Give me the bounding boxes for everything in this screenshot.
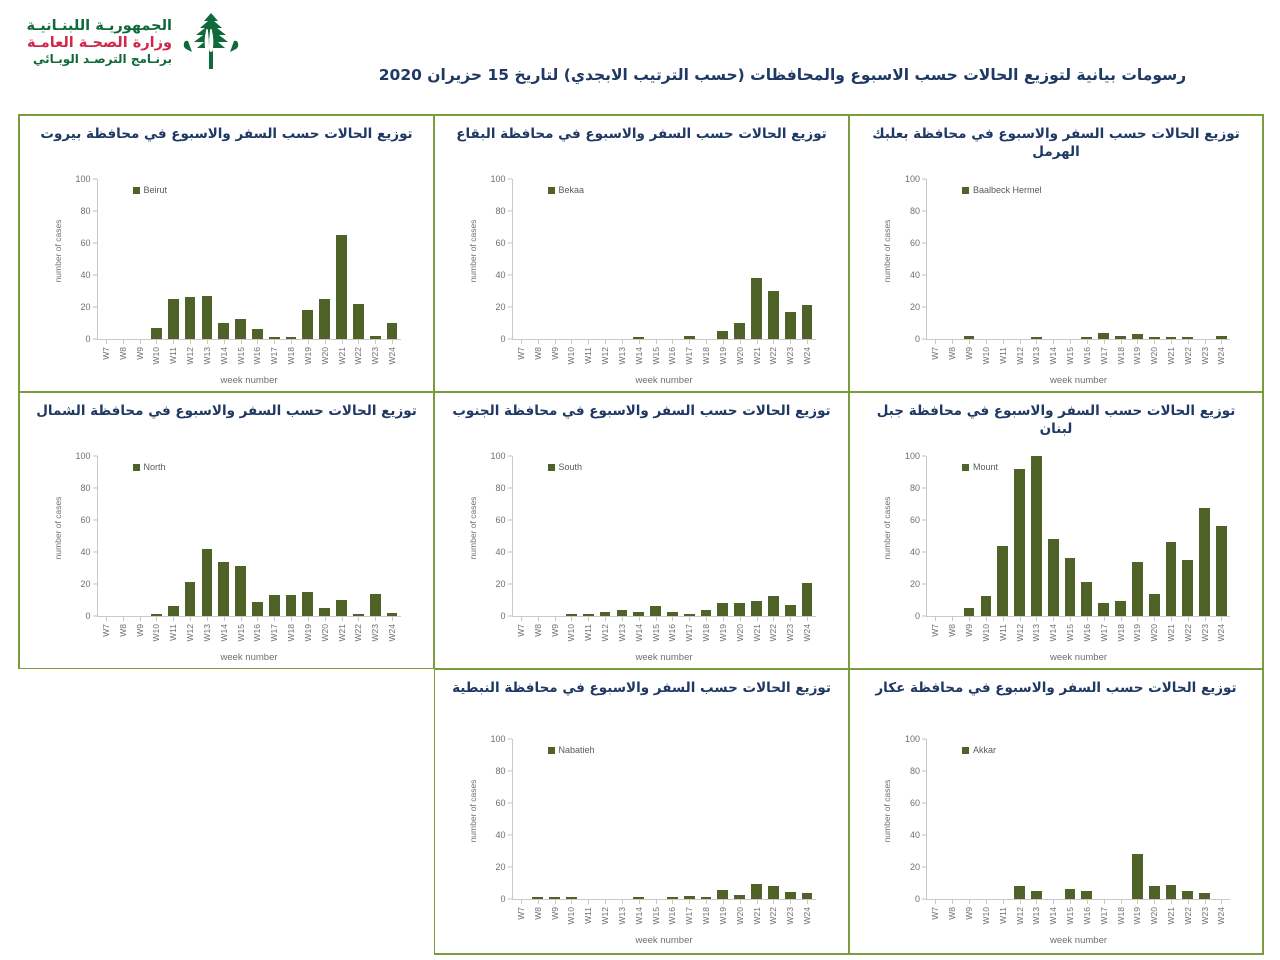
bar[interactable] xyxy=(302,310,313,339)
chart-legend: Mount xyxy=(962,462,998,472)
x-tick-label: W10 xyxy=(566,907,576,924)
bar[interactable] xyxy=(1065,558,1076,616)
bar[interactable] xyxy=(252,602,263,616)
x-slot: W21 xyxy=(748,900,765,940)
bar-slot xyxy=(148,179,165,339)
bar[interactable] xyxy=(1166,337,1177,339)
bar[interactable] xyxy=(1081,337,1092,339)
bar[interactable] xyxy=(235,319,246,339)
bar[interactable] xyxy=(151,328,162,339)
x-tick-mark xyxy=(358,617,359,621)
x-slot: W19 xyxy=(714,340,731,380)
x-axis-label: week number xyxy=(98,375,401,386)
bar[interactable] xyxy=(633,337,644,339)
x-slot: W22 xyxy=(1179,900,1196,940)
x-slot: W15 xyxy=(647,900,664,940)
bar-slot xyxy=(98,456,115,616)
x-slot: W8 xyxy=(114,617,131,657)
x-slot: W11 xyxy=(580,617,597,657)
bar[interactable] xyxy=(717,603,728,616)
bar[interactable] xyxy=(650,606,661,616)
x-tick-label: W20 xyxy=(1149,624,1159,641)
y-tick-label: 60 xyxy=(910,238,920,248)
bar[interactable] xyxy=(1081,582,1092,616)
bar[interactable] xyxy=(1216,526,1227,616)
x-tick-mark xyxy=(1036,340,1037,344)
bar[interactable] xyxy=(252,329,263,339)
y-axis-ticks: 100806040200 xyxy=(892,179,926,339)
x-tick-label: W20 xyxy=(735,907,745,924)
x-slot: W20 xyxy=(1146,340,1163,380)
y-tick-label: 0 xyxy=(85,334,90,344)
bar[interactable] xyxy=(151,614,162,616)
x-tick-mark xyxy=(807,617,808,621)
x-slot: W11 xyxy=(994,900,1011,940)
x-tick-mark xyxy=(257,340,258,344)
chart-legend: Bekaa xyxy=(548,185,585,195)
bar[interactable] xyxy=(336,235,347,339)
x-tick-mark xyxy=(1154,617,1155,621)
x-tick-label: W15 xyxy=(1065,624,1075,641)
y-tick-label: 0 xyxy=(500,894,505,904)
bar[interactable] xyxy=(1166,885,1177,899)
x-tick-mark xyxy=(740,340,741,344)
bar-slot xyxy=(714,739,731,899)
bar[interactable] xyxy=(302,592,313,616)
bar[interactable] xyxy=(336,600,347,616)
x-tick-mark xyxy=(521,900,522,904)
bar[interactable] xyxy=(1182,560,1193,616)
x-slot: W24 xyxy=(799,900,816,940)
x-tick-mark xyxy=(1221,617,1222,621)
bar[interactable] xyxy=(185,582,196,616)
bar[interactable] xyxy=(802,893,813,899)
bar[interactable] xyxy=(1098,603,1109,616)
legend-swatch-icon xyxy=(962,747,969,754)
bar[interactable] xyxy=(1149,594,1160,616)
bar[interactable] xyxy=(387,613,398,616)
x-tick-label: W7 xyxy=(930,347,940,360)
bar[interactable] xyxy=(997,546,1008,616)
bar-slot xyxy=(647,739,664,899)
bar[interactable] xyxy=(1098,333,1109,339)
x-slot: W20 xyxy=(1146,900,1163,940)
x-slot: W17 xyxy=(681,900,698,940)
bar[interactable] xyxy=(768,291,779,339)
y-tick-label: 80 xyxy=(910,766,920,776)
x-tick-label: W19 xyxy=(718,347,728,364)
x-tick-mark xyxy=(1205,900,1206,904)
x-tick-label: W19 xyxy=(718,624,728,641)
bar-slot xyxy=(630,456,647,616)
bar-slot xyxy=(927,456,944,616)
x-axis-label: week number xyxy=(927,375,1230,386)
x-tick-mark xyxy=(807,900,808,904)
x-tick-label: W14 xyxy=(219,347,229,364)
bar[interactable] xyxy=(717,331,728,339)
bar[interactable] xyxy=(701,897,712,899)
chart-title: توزيع الحالات حسب السفر والاسبوع في محاف… xyxy=(435,670,848,697)
bar[interactable] xyxy=(768,596,779,616)
x-tick-label: W15 xyxy=(236,624,246,641)
bar-slot xyxy=(1112,739,1129,899)
bar[interactable] xyxy=(218,562,229,616)
x-tick-mark xyxy=(790,617,791,621)
chart-cell-nabatieh: توزيع الحالات حسب السفر والاسبوع في محاف… xyxy=(434,669,849,955)
bar[interactable] xyxy=(1031,337,1042,339)
x-slot: W10 xyxy=(563,617,580,657)
bar[interactable] xyxy=(370,336,381,339)
bar[interactable] xyxy=(802,583,813,616)
bar-slot xyxy=(961,179,978,339)
y-tick-label: 60 xyxy=(80,515,90,525)
y-tick-label: 40 xyxy=(80,547,90,557)
x-slot: W11 xyxy=(580,900,597,940)
x-tick-label: W22 xyxy=(353,347,363,364)
x-tick-mark xyxy=(1188,340,1189,344)
bar-slot xyxy=(977,179,994,339)
y-tick-label: 100 xyxy=(75,451,90,461)
x-slot: W24 xyxy=(1213,900,1230,940)
x-tick-mark xyxy=(588,340,589,344)
bar[interactable] xyxy=(684,896,695,899)
x-tick-label: W12 xyxy=(600,907,610,924)
x-tick-mark xyxy=(1171,340,1172,344)
bar[interactable] xyxy=(751,601,762,616)
x-slot: W16 xyxy=(664,340,681,380)
bar[interactable] xyxy=(1014,469,1025,616)
bar[interactable] xyxy=(549,897,560,899)
chart-legend: North xyxy=(133,462,166,472)
bar-slot xyxy=(765,179,782,339)
x-slot: W12 xyxy=(182,340,199,380)
bar[interactable] xyxy=(1115,601,1126,616)
x-tick-label: W11 xyxy=(998,907,1008,924)
x-slot: W17 xyxy=(681,617,698,657)
x-slot: W7 xyxy=(98,617,115,657)
x-tick-mark xyxy=(672,900,673,904)
x-tick-label: W18 xyxy=(1116,347,1126,364)
chart-title: توزيع الحالات حسب السفر والاسبوع في محاف… xyxy=(435,393,848,420)
bar-slot xyxy=(299,179,316,339)
bar[interactable] xyxy=(387,323,398,339)
bar[interactable] xyxy=(218,323,229,339)
bar-slot xyxy=(748,179,765,339)
y-tick-label: 80 xyxy=(910,483,920,493)
x-tick-mark xyxy=(106,617,107,621)
bar-slot xyxy=(215,456,232,616)
x-slot: W23 xyxy=(1196,340,1213,380)
x-tick-label: W9 xyxy=(550,347,560,360)
bar[interactable] xyxy=(1182,337,1193,339)
x-slot: W19 xyxy=(714,900,731,940)
legend-swatch-icon xyxy=(133,187,140,194)
x-tick-label: W11 xyxy=(998,624,1008,641)
bar[interactable] xyxy=(1132,334,1143,339)
bar[interactable] xyxy=(353,304,364,339)
x-slot: W10 xyxy=(148,617,165,657)
bar[interactable] xyxy=(1065,889,1076,899)
x-tick-label: W14 xyxy=(219,624,229,641)
bar[interactable] xyxy=(1115,336,1126,339)
bar[interactable] xyxy=(1031,456,1042,616)
x-slot: W24 xyxy=(1213,340,1230,380)
x-slot: W8 xyxy=(944,900,961,940)
x-tick-mark xyxy=(656,340,657,344)
bar[interactable] xyxy=(1149,886,1160,899)
x-slot: W7 xyxy=(927,900,944,940)
bar-slot xyxy=(1095,739,1112,899)
x-tick-label: W21 xyxy=(1166,347,1176,364)
x-tick-label: W17 xyxy=(684,347,694,364)
y-tick-label: 20 xyxy=(910,862,920,872)
x-tick-mark xyxy=(773,617,774,621)
x-tick-mark xyxy=(392,617,393,621)
x-tick-label: W8 xyxy=(533,907,543,920)
x-slot: W9 xyxy=(961,900,978,940)
x-slot: W9 xyxy=(131,340,148,380)
x-tick-label: W23 xyxy=(785,347,795,364)
bar-slot xyxy=(1011,456,1028,616)
x-slot: W21 xyxy=(748,617,765,657)
bar[interactable] xyxy=(667,612,678,616)
x-tick-mark xyxy=(1205,340,1206,344)
x-slot: W10 xyxy=(148,340,165,380)
x-tick-label: W8 xyxy=(947,907,957,920)
x-axis-label: week number xyxy=(513,375,816,386)
x-tick-label: W17 xyxy=(1099,624,1109,641)
bar-slot xyxy=(977,739,994,899)
x-slot: W8 xyxy=(944,340,961,380)
x-tick-mark xyxy=(588,617,589,621)
bar[interactable] xyxy=(1199,893,1210,899)
x-tick-mark xyxy=(224,617,225,621)
bar[interactable] xyxy=(1048,539,1059,616)
bar[interactable] xyxy=(566,614,577,616)
y-tick-label: 40 xyxy=(495,270,505,280)
x-tick-label: W15 xyxy=(1065,907,1075,924)
bar[interactable] xyxy=(633,612,644,616)
bar[interactable] xyxy=(684,614,695,616)
x-tick-mark xyxy=(521,340,522,344)
x-tick-label: W21 xyxy=(752,907,762,924)
bar-slot xyxy=(580,456,597,616)
bar-slot xyxy=(333,179,350,339)
bar[interactable] xyxy=(1216,336,1227,339)
x-slot: W7 xyxy=(927,340,944,380)
x-tick-label: W7 xyxy=(101,624,111,637)
bar[interactable] xyxy=(202,296,213,339)
bar[interactable] xyxy=(802,305,813,339)
x-slot: W11 xyxy=(994,617,1011,657)
bar[interactable] xyxy=(734,603,745,616)
x-tick-label: W9 xyxy=(135,347,145,360)
bar-series xyxy=(513,179,816,339)
bar[interactable] xyxy=(701,610,712,616)
x-tick-label: W22 xyxy=(353,624,363,641)
x-tick-label: W24 xyxy=(1216,347,1226,364)
x-tick-mark xyxy=(571,340,572,344)
bar[interactable] xyxy=(269,595,280,616)
x-tick-mark xyxy=(190,617,191,621)
bar[interactable] xyxy=(319,608,330,616)
chart-title: توزيع الحالات حسب السفر والاسبوع في محاف… xyxy=(20,393,433,420)
x-tick-label: W18 xyxy=(701,347,711,364)
x-slot: W24 xyxy=(799,617,816,657)
bar-slot xyxy=(597,179,614,339)
x-tick-mark xyxy=(969,900,970,904)
bar[interactable] xyxy=(684,336,695,339)
bar[interactable] xyxy=(1081,891,1092,899)
x-tick-label: W12 xyxy=(600,347,610,364)
bar[interactable] xyxy=(185,297,196,339)
bar[interactable] xyxy=(353,614,364,616)
x-slot: W19 xyxy=(299,340,316,380)
bar[interactable] xyxy=(734,895,745,899)
x-slot: W12 xyxy=(1011,340,1028,380)
x-slot: W23 xyxy=(1196,900,1213,940)
bar-slot xyxy=(165,179,182,339)
bar[interactable] xyxy=(751,278,762,339)
bar[interactable] xyxy=(785,312,796,339)
x-slot: W9 xyxy=(961,340,978,380)
x-tick-mark xyxy=(1053,617,1054,621)
bar[interactable] xyxy=(286,337,297,339)
x-tick-label: W19 xyxy=(718,907,728,924)
bar[interactable] xyxy=(751,884,762,899)
bar[interactable] xyxy=(1014,886,1025,899)
x-slot: W21 xyxy=(333,617,350,657)
bar[interactable] xyxy=(1132,854,1143,899)
moph-logo: الجمهوريـة اللبنـانيـة وزارة الصحـة العا… xyxy=(14,8,244,76)
x-slot: W14 xyxy=(1045,900,1062,940)
x-slot: W17 xyxy=(266,340,283,380)
bar[interactable] xyxy=(964,608,975,616)
bar-slot xyxy=(1179,739,1196,899)
bar[interactable] xyxy=(319,299,330,339)
bar-slot xyxy=(714,456,731,616)
bar[interactable] xyxy=(583,614,594,616)
bar-slot xyxy=(994,739,1011,899)
bar[interactable] xyxy=(633,897,644,899)
x-tick-mark xyxy=(1137,617,1138,621)
bar[interactable] xyxy=(168,606,179,616)
bar[interactable] xyxy=(964,336,975,339)
x-tick-mark xyxy=(123,340,124,344)
x-slot: W24 xyxy=(799,340,816,380)
bar-slot xyxy=(563,179,580,339)
bar[interactable] xyxy=(617,610,628,616)
x-slot: W15 xyxy=(232,340,249,380)
x-tick-label: W24 xyxy=(1216,624,1226,641)
y-tick-label: 40 xyxy=(910,830,920,840)
y-tick-label: 20 xyxy=(495,302,505,312)
bar[interactable] xyxy=(717,890,728,899)
x-slot: W20 xyxy=(316,340,333,380)
x-tick-mark xyxy=(605,900,606,904)
x-tick-label: W9 xyxy=(964,347,974,360)
chart-legend: South xyxy=(548,462,583,472)
bar[interactable] xyxy=(202,549,213,616)
bar[interactable] xyxy=(785,892,796,899)
logo-line-ministry: وزارة الصحـة العامـة xyxy=(14,35,172,52)
x-slot: W9 xyxy=(546,617,563,657)
bar[interactable] xyxy=(734,323,745,339)
bar[interactable] xyxy=(768,886,779,899)
bar[interactable] xyxy=(235,566,246,616)
bar-slot xyxy=(249,456,266,616)
bar[interactable] xyxy=(269,337,280,339)
legend-swatch-icon xyxy=(133,464,140,471)
x-slot: W12 xyxy=(1011,617,1028,657)
bar-chart-bekaa: number of cases100806040200W7W8W9W10W11W… xyxy=(462,179,822,389)
bar-chart-north: number of cases100806040200W7W8W9W10W11W… xyxy=(47,456,407,666)
bar[interactable] xyxy=(785,605,796,616)
bar-slot xyxy=(647,179,664,339)
x-tick-mark xyxy=(190,340,191,344)
bar[interactable] xyxy=(1199,508,1210,616)
x-tick-label: W10 xyxy=(981,347,991,364)
x-tick-mark xyxy=(1053,900,1054,904)
x-tick-mark xyxy=(173,340,174,344)
x-slot: W11 xyxy=(994,340,1011,380)
x-slot: W21 xyxy=(333,340,350,380)
bar[interactable] xyxy=(600,612,611,616)
y-tick-label: 0 xyxy=(85,611,90,621)
x-tick-mark xyxy=(1205,617,1206,621)
bar-slot xyxy=(698,739,715,899)
bar[interactable] xyxy=(168,299,179,339)
bar[interactable] xyxy=(667,897,678,899)
bar-slot xyxy=(546,179,563,339)
x-tick-mark xyxy=(986,617,987,621)
bar-slot xyxy=(232,179,249,339)
bar[interactable] xyxy=(532,897,543,899)
y-tick-label: 60 xyxy=(80,238,90,248)
x-tick-label: W17 xyxy=(269,347,279,364)
x-slot: W23 xyxy=(1196,617,1213,657)
y-axis-ticks: 100806040200 xyxy=(478,739,512,899)
bar-slot xyxy=(1196,739,1213,899)
bar[interactable] xyxy=(566,897,577,899)
bar[interactable] xyxy=(1149,337,1160,339)
bar[interactable] xyxy=(370,594,381,616)
y-tick-label: 100 xyxy=(490,174,505,184)
bar[interactable] xyxy=(1166,542,1177,616)
x-axis-label: week number xyxy=(513,935,816,946)
bar-slot xyxy=(1095,456,1112,616)
x-tick-label: W10 xyxy=(151,624,161,641)
bar-slot xyxy=(529,179,546,339)
x-tick-label: W13 xyxy=(1031,624,1041,641)
x-slot: W18 xyxy=(1112,617,1129,657)
x-tick-mark xyxy=(773,900,774,904)
bar-slot xyxy=(1062,456,1079,616)
bar[interactable] xyxy=(1132,562,1143,616)
legend-label: Mount xyxy=(973,462,998,472)
bar[interactable] xyxy=(981,596,992,616)
bar-chart-nabatieh: number of cases100806040200W7W8W9W10W11W… xyxy=(462,739,822,949)
bar-slot xyxy=(1078,456,1095,616)
x-tick-mark xyxy=(1104,617,1105,621)
y-tick-label: 80 xyxy=(495,766,505,776)
x-tick-mark xyxy=(555,340,556,344)
bar[interactable] xyxy=(1031,891,1042,899)
bar[interactable] xyxy=(1182,891,1193,899)
bar[interactable] xyxy=(286,595,297,616)
x-slot: W15 xyxy=(1062,340,1079,380)
x-tick-label: W14 xyxy=(634,624,644,641)
